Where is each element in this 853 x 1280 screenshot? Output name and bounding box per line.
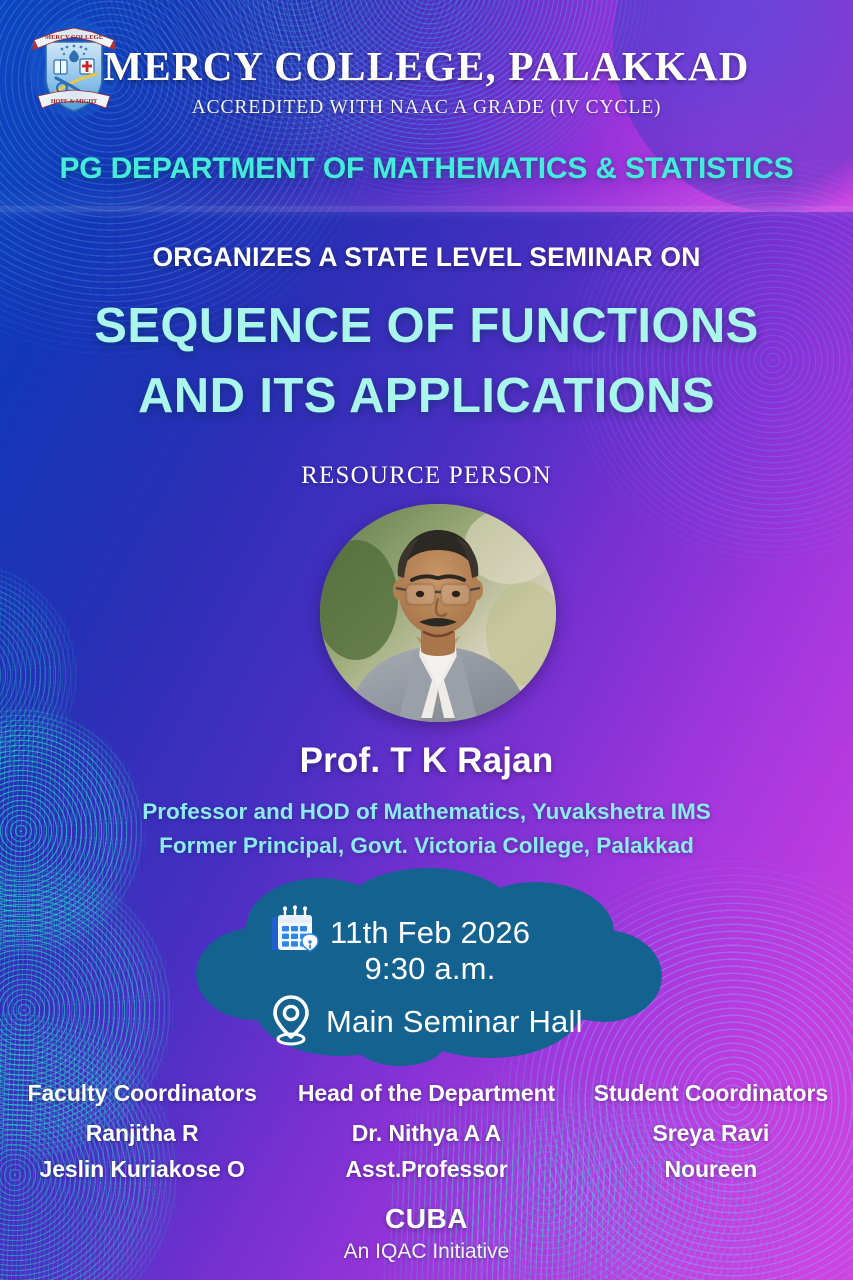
seminar-title-line2: AND ITS APPLICATIONS — [0, 362, 853, 432]
detail-row-venue: Main Seminar Hall — [266, 991, 583, 1052]
speaker-affiliation: Professor and HOD of Mathematics, Yuvaks… — [0, 795, 853, 863]
coordinator-heading: Student Coordinators — [569, 1080, 853, 1107]
location-pin-icon — [266, 991, 316, 1052]
coordinator-name: Noureen — [569, 1152, 853, 1188]
coordinator-heading: Faculty Coordinators — [0, 1080, 284, 1107]
department-name: PG DEPARTMENT OF MATHEMATICS & STATISTIC… — [0, 152, 853, 186]
coordinator-name: Asst.Professor — [284, 1152, 568, 1188]
seminar-title-line1: SEQUENCE OF FUNCTIONS — [94, 299, 759, 353]
event-time: 9:30 a.m. — [364, 951, 495, 987]
accreditation-text: ACCREDITED WITH NAAC A GRADE (IV CYCLE) — [0, 97, 853, 119]
coordinator-heading: Head of the Department — [284, 1080, 568, 1107]
resource-person-label: RESOURCE PERSON — [0, 462, 853, 490]
coordinator-column-hod: Head of the Department Dr. Nithya A A As… — [284, 1080, 568, 1187]
poster-content: MERCY COLLEGE — [0, 0, 853, 1280]
footer-title: CUBA — [0, 1203, 853, 1235]
coordinator-name: Jeslin Kuriakose O — [0, 1152, 284, 1188]
event-venue: Main Seminar Hall — [326, 1004, 583, 1040]
organizes-line: ORGANIZES A STATE LEVEL SEMINAR ON — [0, 242, 853, 273]
coordinator-name: Ranjitha R — [0, 1116, 284, 1152]
seminar-poster: MERCY COLLEGE — [0, 0, 853, 1280]
coordinator-name: Dr. Nithya A A — [284, 1116, 568, 1152]
coordinator-column-faculty: Faculty Coordinators Ranjitha R Jeslin K… — [0, 1080, 284, 1187]
speaker-affiliation-line1: Professor and HOD of Mathematics, Yuvaks… — [0, 795, 853, 829]
svg-text:MERCY COLLEGE: MERCY COLLEGE — [45, 34, 103, 41]
coordinators-section: Faculty Coordinators Ranjitha R Jeslin K… — [0, 1080, 853, 1187]
event-date: 11th Feb 2026 — [330, 915, 530, 951]
footer-subtitle: An IQAC Initiative — [0, 1240, 853, 1264]
coordinator-name: Sreya Ravi — [569, 1116, 853, 1152]
speaker-affiliation-line2: Former Principal, Govt. Victoria College… — [0, 829, 853, 863]
event-details: 11th Feb 2026 9:30 a.m. Main Seminar Hal… — [190, 866, 670, 1066]
speaker-portrait — [320, 504, 556, 722]
speaker-name: Prof. T K Rajan — [0, 741, 853, 781]
college-name: MERCY COLLEGE, PALAKKAD — [0, 42, 853, 90]
coordinator-column-student: Student Coordinators Sreya Ravi Noureen — [569, 1080, 853, 1187]
detail-row-time: 9:30 a.m. — [190, 951, 670, 987]
seminar-title: SEQUENCE OF FUNCTIONS AND ITS APPLICATIO… — [0, 292, 853, 431]
